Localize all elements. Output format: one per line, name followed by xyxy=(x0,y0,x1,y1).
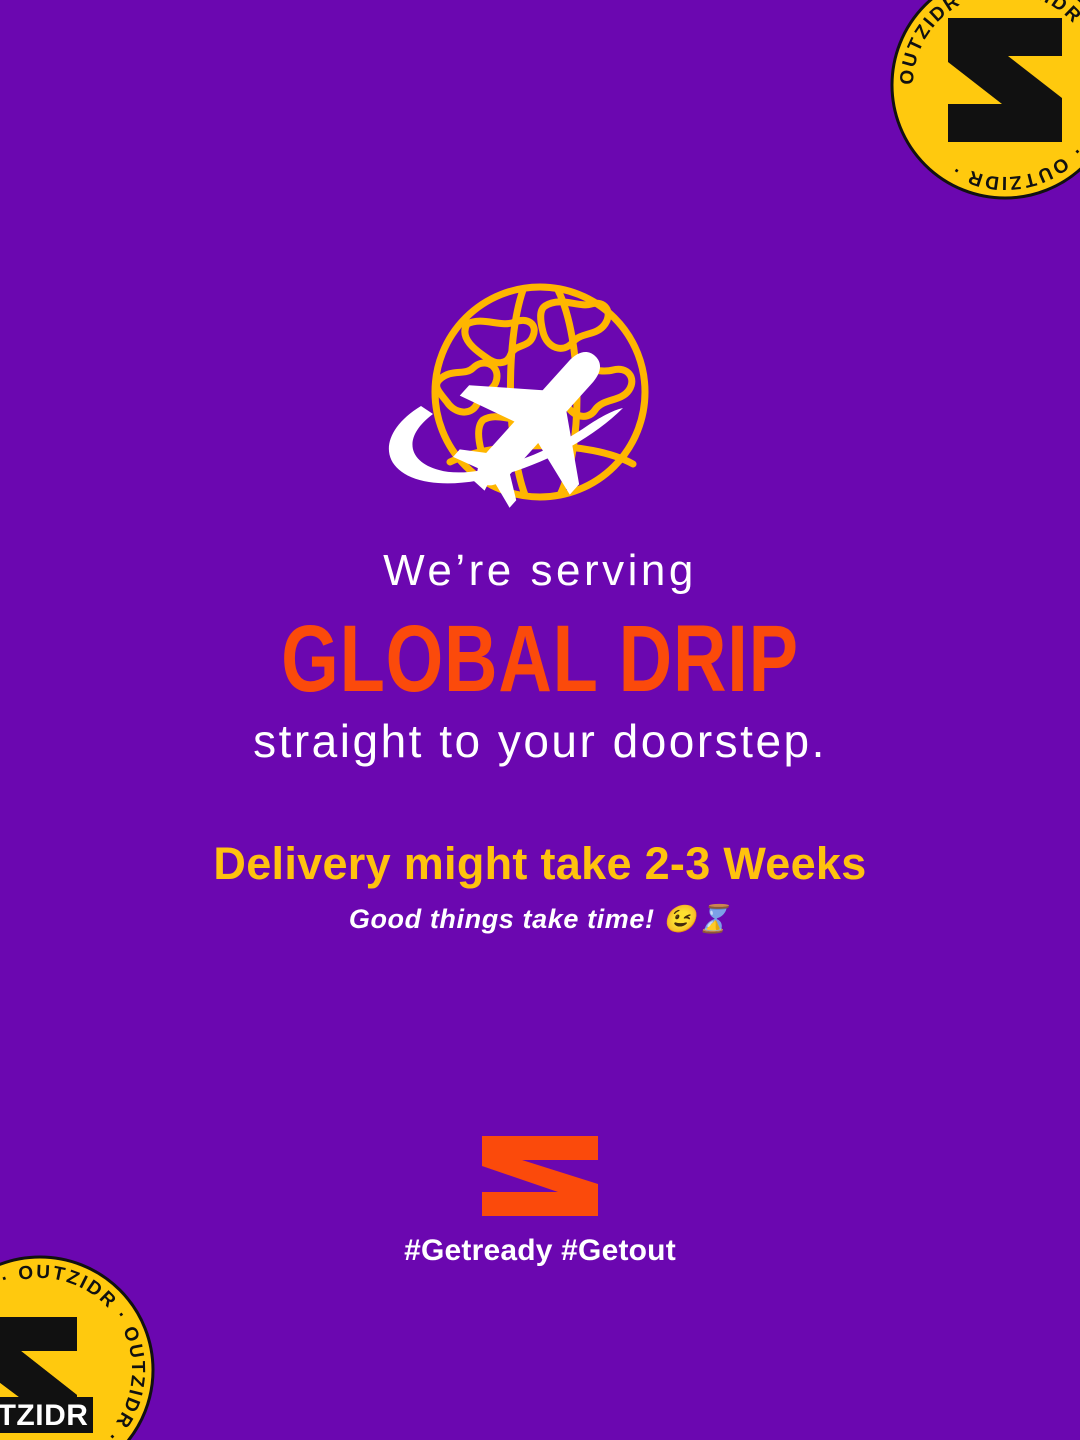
badge-wordmark: OUTZIDR xyxy=(0,1399,88,1432)
copy-block: We’re serving GLOBAL DRIP straight to yo… xyxy=(0,548,1080,935)
globe-plane-illustration xyxy=(355,272,725,520)
subline: straight to your doorstep. xyxy=(0,717,1080,765)
headline: GLOBAL DRIP xyxy=(119,612,961,707)
brand-badge-top-right: OUTZIDR · OUTZIDR · OUTZIDR · OUTZIDR · xyxy=(890,0,1080,200)
brand-z-logo xyxy=(478,1134,602,1218)
delivery-subnote: Good things take time! 😉⌛ xyxy=(0,903,1080,935)
delivery-note: Delivery might take 2-3 Weeks xyxy=(0,839,1080,889)
poster-canvas: OUTZIDR · OUTZIDR · OUTZIDR · OUTZIDR · … xyxy=(0,0,1080,1440)
tagline: #Getready #Getout xyxy=(0,1234,1080,1268)
brand-badge-bottom-left: OUTZIDR · OUTZIDR · OUTZIDR · OUTZIDR · … xyxy=(0,1255,155,1440)
eyebrow-line: We’re serving xyxy=(0,548,1080,594)
footer-lockup: #Getready #Getout xyxy=(0,1134,1080,1268)
